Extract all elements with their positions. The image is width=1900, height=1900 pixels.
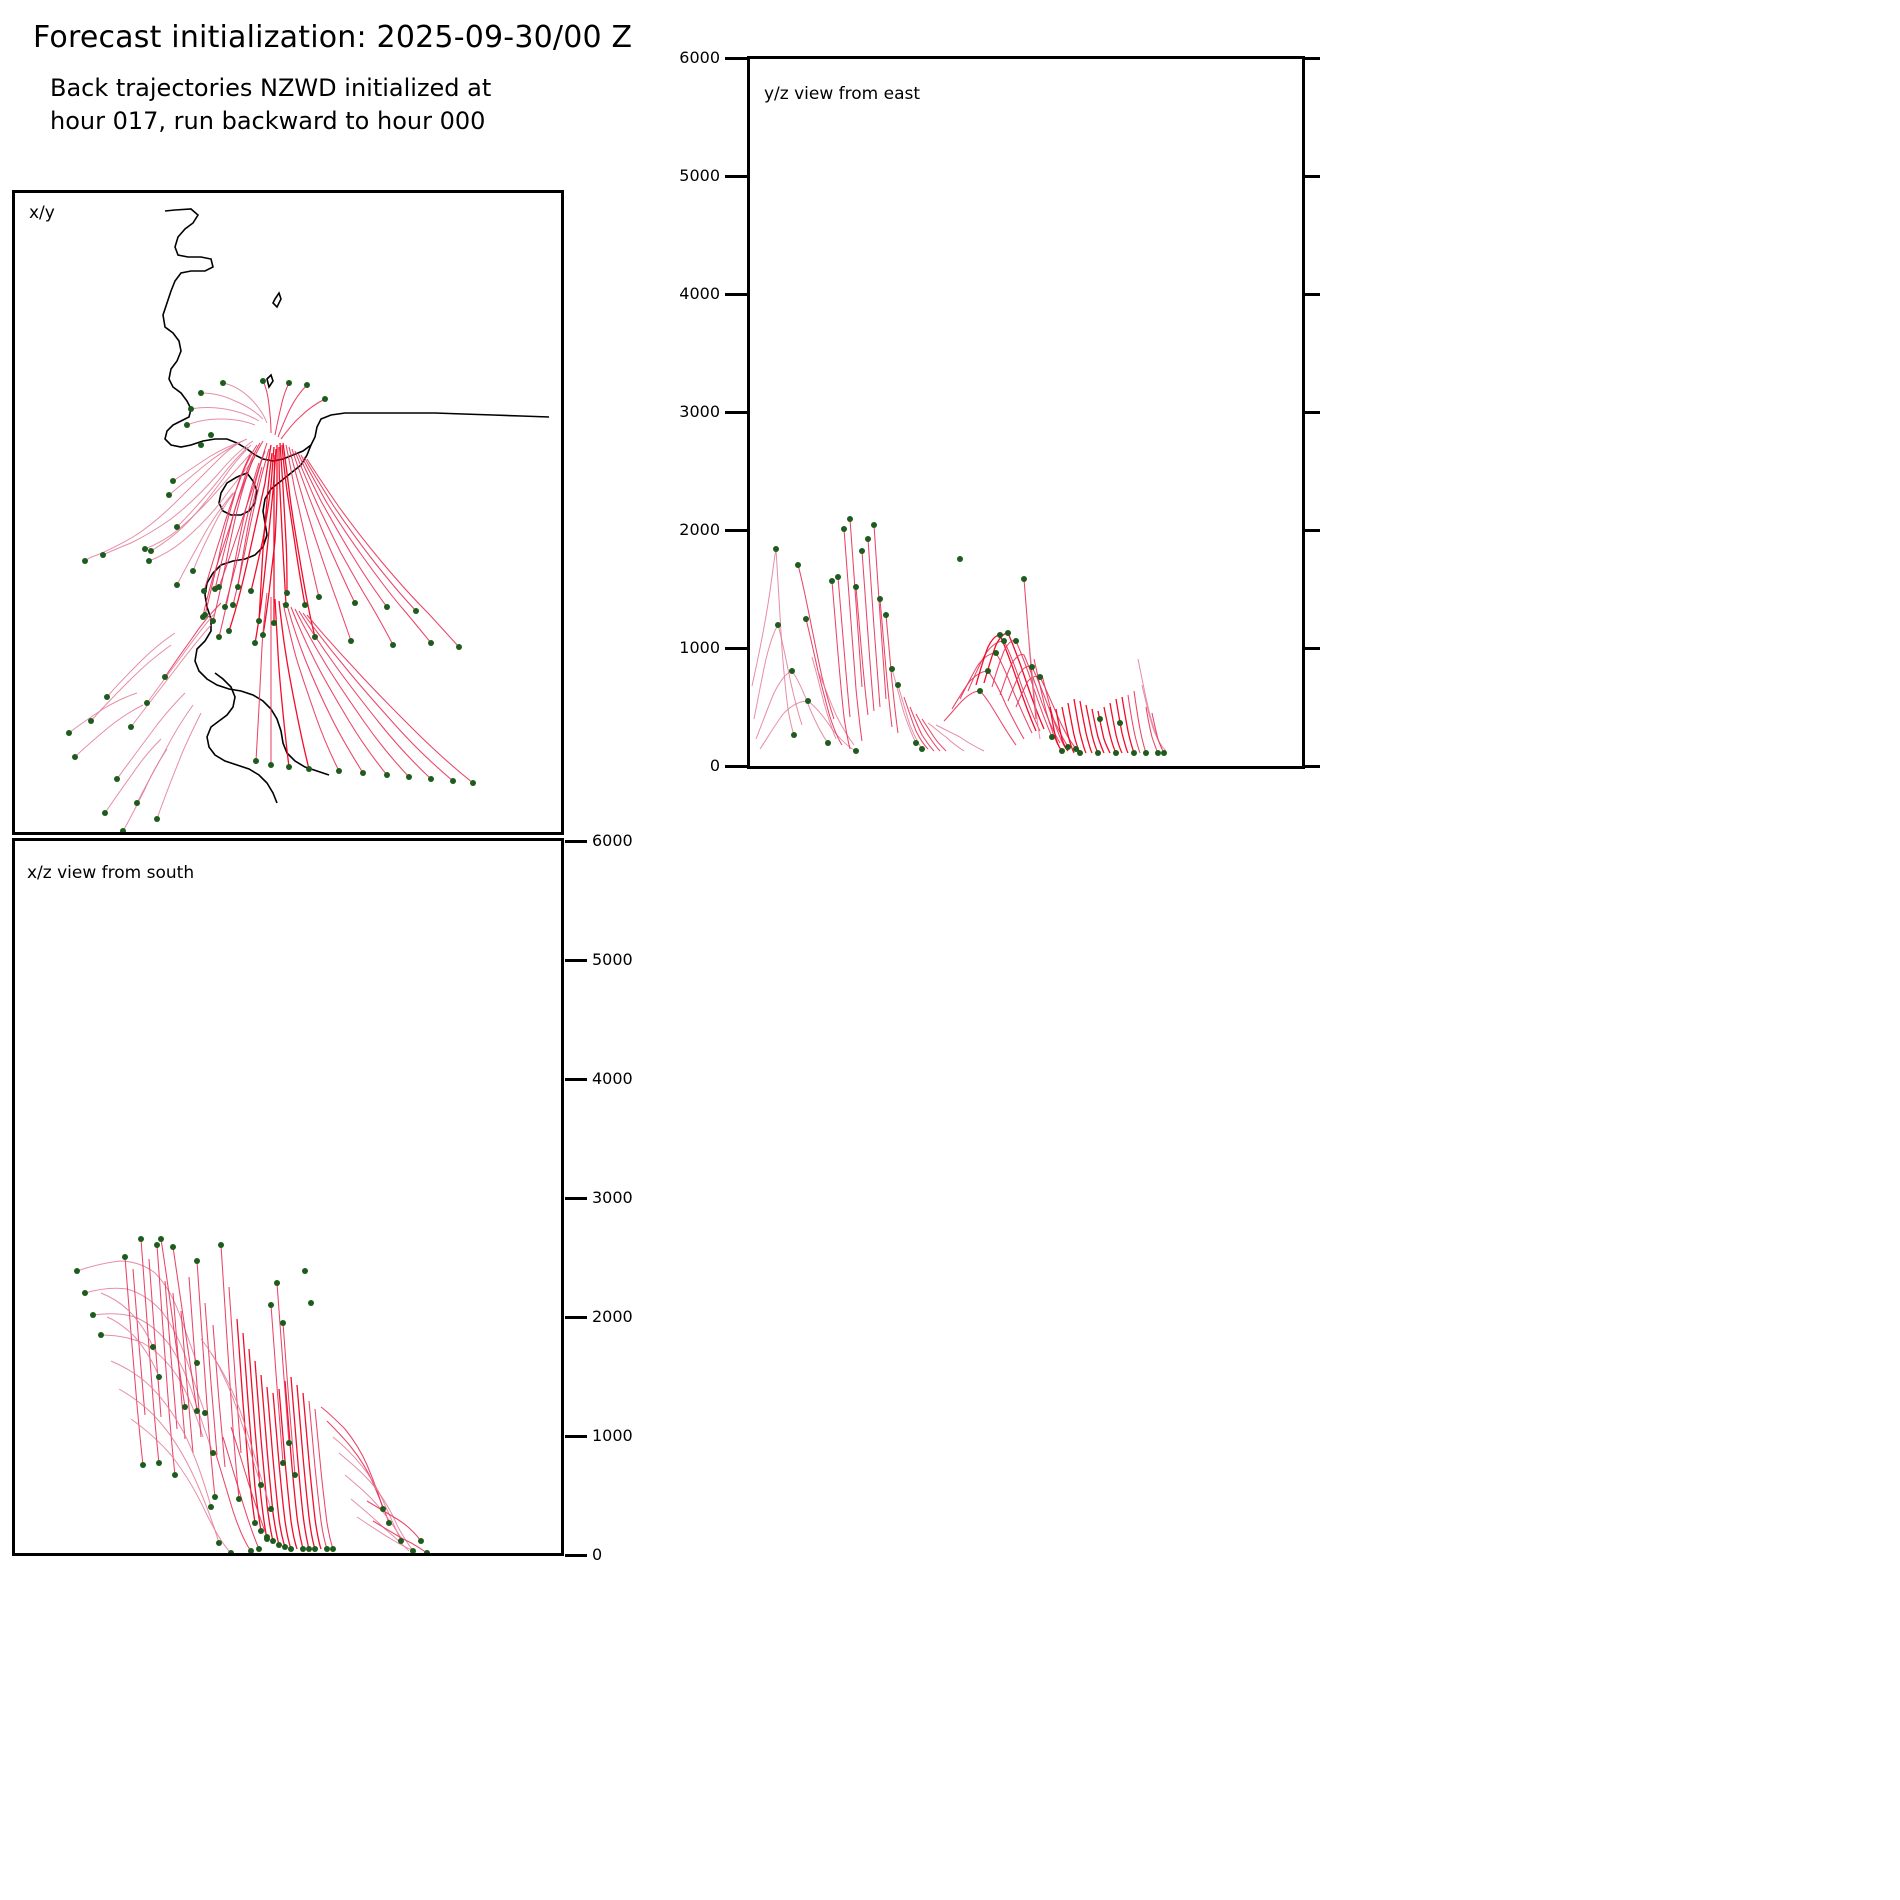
xz-tick-label-5000: 5000: [592, 950, 682, 969]
yz-tick-label-3000: 3000: [620, 402, 720, 421]
yz-tick-label-6000: 6000: [620, 48, 720, 67]
xz-tick-label-1000: 1000: [592, 1426, 682, 1445]
panel-xz: x/z view from south: [12, 838, 564, 1556]
xz-tick-label-6000: 6000: [592, 831, 682, 850]
page-title: Forecast initialization: 2025-09-30/00 Z: [33, 20, 632, 55]
yz-tick-label-0: 0: [620, 756, 720, 775]
xz-tick-label-4000: 4000: [592, 1069, 682, 1088]
xz-tick-label-3000: 3000: [592, 1188, 682, 1207]
page-subtitle-line-2: hour 017, run backward to hour 000: [50, 105, 485, 138]
trajectory-paths-yz: [752, 519, 1166, 753]
yz-tick-label-4000: 4000: [620, 284, 720, 303]
page-subtitle-line-1: Back trajectories NZWD initialized at: [50, 72, 491, 105]
panel-xy: x/y: [12, 190, 564, 835]
trajectory-endpoints-yz: [773, 516, 1167, 756]
panel-yz-label: y/z view from east: [764, 84, 920, 104]
panel-xy-plot: [15, 193, 561, 832]
trajectory-paths-xz: [77, 1239, 427, 1553]
panel-yz: y/z view from east: [747, 56, 1305, 769]
yz-tick-label-1000: 1000: [620, 638, 720, 657]
panel-xy-label: x/y: [29, 203, 55, 223]
panel-yz-plot: [750, 59, 1302, 766]
panel-xz-label: x/z view from south: [27, 863, 194, 883]
xz-tick-label-2000: 2000: [592, 1307, 682, 1326]
yz-tick-label-2000: 2000: [620, 520, 720, 539]
panel-xz-plot: [15, 841, 561, 1553]
yz-tick-label-5000: 5000: [620, 166, 720, 185]
coastline-path: [163, 209, 549, 803]
xz-tick-label-0: 0: [592, 1545, 682, 1564]
